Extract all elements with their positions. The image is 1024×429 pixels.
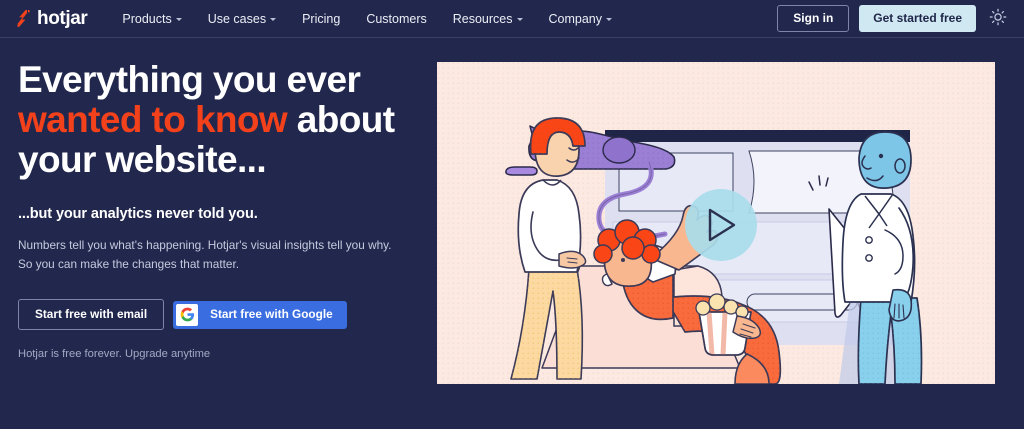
hero-illustration [437, 62, 995, 384]
start-free-with-google-button[interactable]: Start free with Google [173, 301, 347, 329]
nav-item-resources[interactable]: Resources [440, 6, 536, 32]
nav-label: Customers [366, 12, 426, 26]
page-title: Everything you ever wanted to know about… [18, 60, 418, 180]
site-header: hotjar Products Use cases Pricing Custom… [0, 0, 1024, 38]
landing-page: hotjar Products Use cases Pricing Custom… [0, 0, 1024, 429]
hero-copy-column: Everything you ever wanted to know about… [18, 60, 418, 360]
chevron-down-icon [606, 18, 612, 21]
chevron-down-icon [270, 18, 276, 21]
nav-item-pricing[interactable]: Pricing [289, 6, 353, 32]
get-started-free-button[interactable]: Get started free [859, 5, 976, 32]
start-free-with-email-button[interactable]: Start free with email [18, 299, 164, 330]
logo-text: hotjar [37, 9, 87, 28]
nav-label: Resources [453, 12, 513, 26]
headline-line-1: Everything you ever [18, 59, 360, 100]
sun-icon [989, 8, 1007, 29]
nav-item-use-cases[interactable]: Use cases [195, 6, 289, 32]
nav-label: Use cases [208, 12, 266, 26]
hero-cta-row: Start free with email Start free with Go… [18, 299, 418, 330]
nav-label: Pricing [302, 12, 340, 26]
hero-subheadline: ...but your analytics never told you. [18, 206, 418, 222]
main-nav: Products Use cases Pricing Customers Res… [109, 6, 625, 32]
nav-label: Company [549, 12, 603, 26]
sign-in-button[interactable]: Sign in [777, 5, 849, 32]
hero-body-text: Numbers tell you what's happening. Hotja… [18, 236, 396, 274]
play-button-icon [685, 189, 757, 261]
hotjar-logo[interactable]: hotjar [16, 9, 87, 28]
headline-line-3: your website... [18, 139, 266, 180]
nav-item-products[interactable]: Products [109, 6, 194, 32]
chevron-down-icon [517, 18, 523, 21]
header-actions: Sign in Get started free [777, 5, 1010, 32]
headline-line-2-tail: about [287, 99, 394, 140]
google-g-icon [176, 304, 198, 326]
google-button-label: Start free with Google [198, 308, 347, 321]
nav-item-customers[interactable]: Customers [353, 6, 439, 32]
hotjar-flame-icon [16, 10, 31, 27]
chevron-down-icon [176, 18, 182, 21]
nav-item-company[interactable]: Company [536, 6, 626, 32]
headline-accent: wanted to know [18, 99, 287, 140]
free-forever-note: Hotjar is free forever. Upgrade anytime [18, 348, 418, 360]
nav-label: Products [122, 12, 171, 26]
theme-toggle-button[interactable] [986, 7, 1010, 31]
